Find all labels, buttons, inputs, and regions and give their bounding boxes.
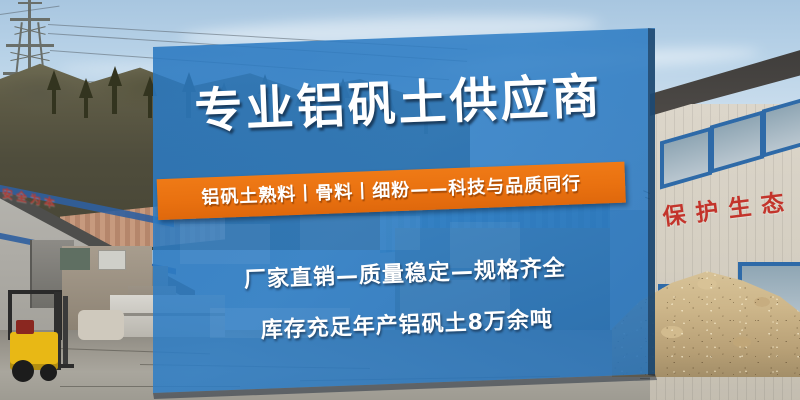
showthrough-shape <box>210 308 350 338</box>
tree <box>112 80 117 114</box>
mid-window <box>60 248 90 270</box>
forklift-mast <box>63 296 68 366</box>
tree <box>52 84 56 114</box>
forklift-wheel <box>40 364 57 381</box>
forklift-wheel <box>12 360 34 382</box>
forklift-seat <box>16 320 34 334</box>
ore-sack <box>78 310 124 340</box>
showthrough-shape <box>450 222 520 268</box>
blue-overlay-panel <box>150 24 655 396</box>
showthrough-shape <box>180 224 270 264</box>
air-conditioner-unit <box>98 250 126 270</box>
forklift <box>6 290 74 385</box>
banner-image: 安全为本 <box>0 0 800 400</box>
tree <box>148 90 152 118</box>
tree <box>84 92 88 118</box>
showthrough-shape <box>300 216 420 250</box>
showthrough-shape <box>400 280 510 326</box>
